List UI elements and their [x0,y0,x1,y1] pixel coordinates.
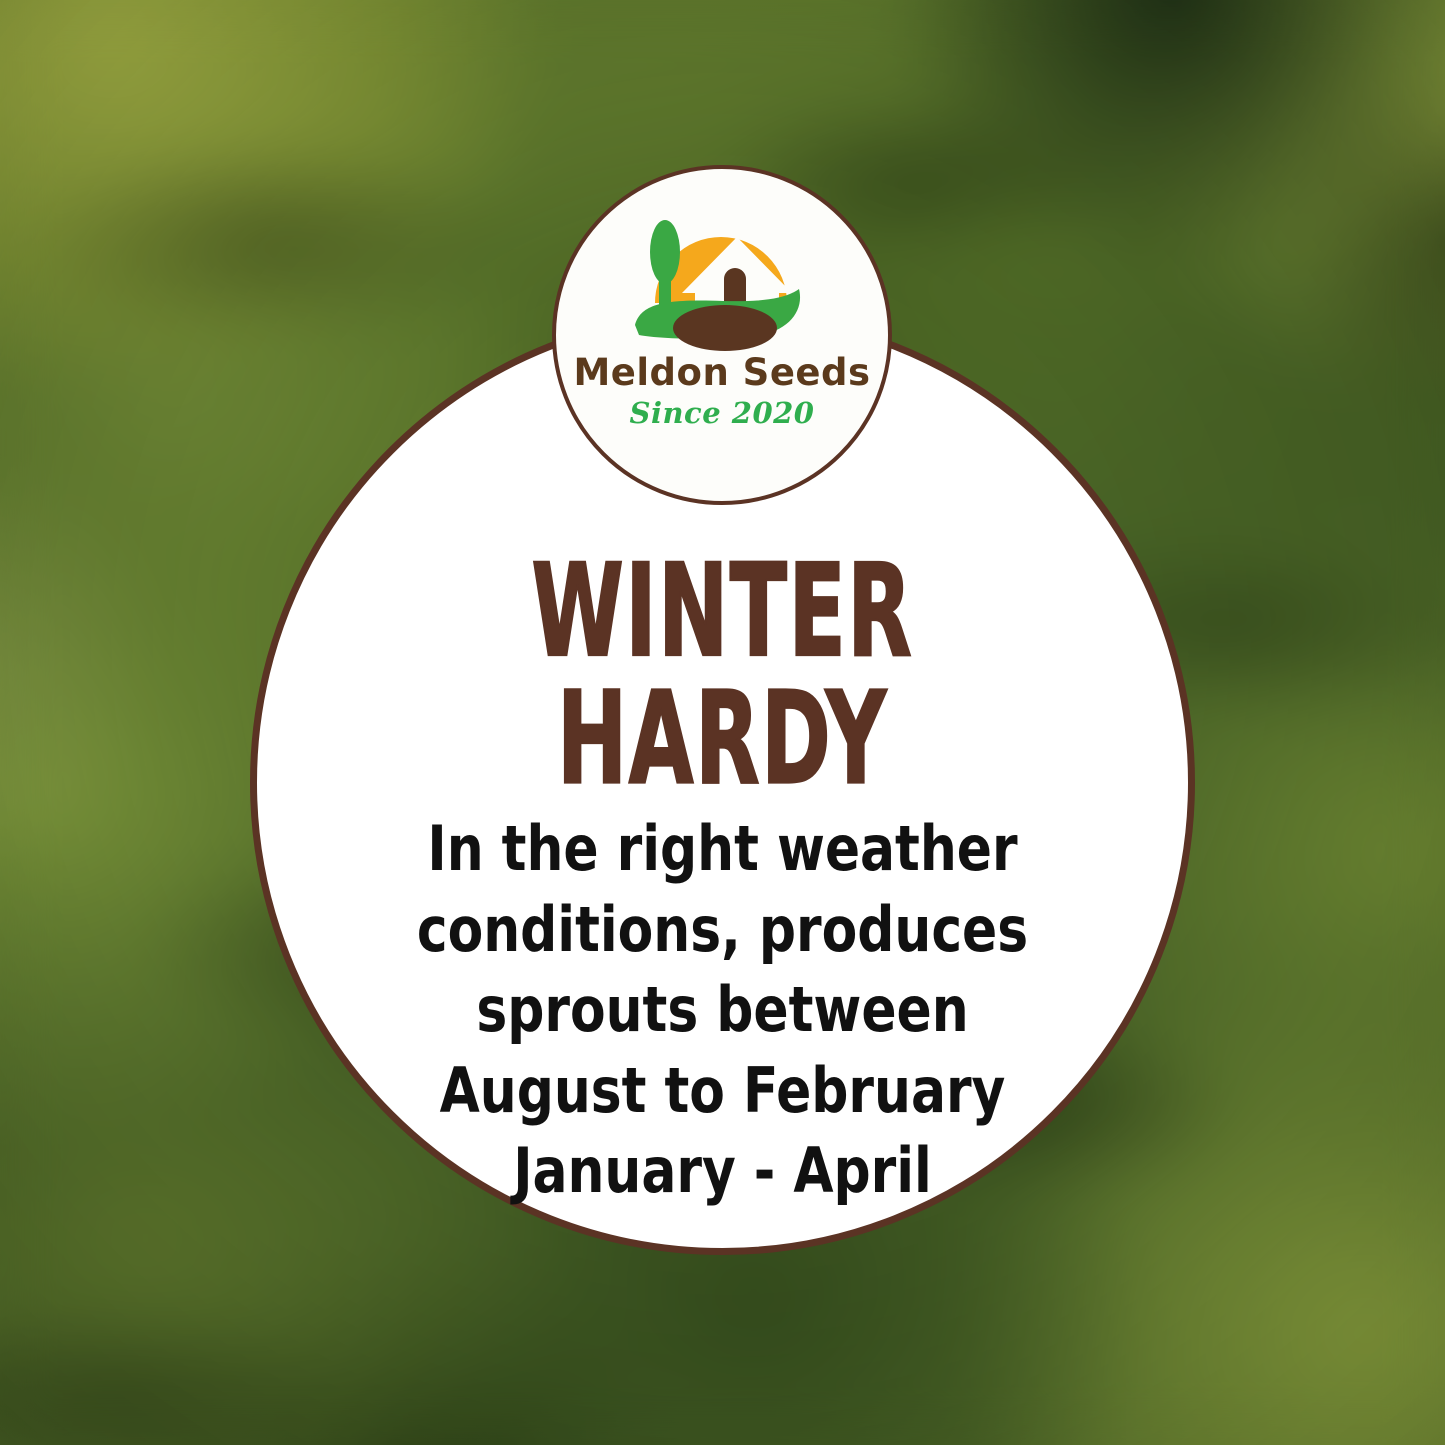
poster-canvas: WINTER HARDY In the right weather condit… [0,0,1445,1445]
farm-house-logo-icon [627,207,817,352]
card-content: WINTER HARDY In the right weather condit… [257,549,1188,1212]
brand-name: Meldon Seeds [573,354,870,391]
house-door-icon [724,268,746,305]
card-description: In the right weather conditions, produce… [345,809,1099,1212]
seed-ellipse-icon [673,305,777,351]
brand-tagline: Since 2020 [630,399,815,428]
page-title: WINTER HARDY [374,549,1071,804]
description-line-5: January - April [345,1131,1099,1212]
description-line-1: In the right weather [345,809,1099,890]
description-line-3: sprouts between [345,970,1099,1051]
description-line-2: conditions, produces [345,890,1099,971]
brand-logo-badge: Meldon Seeds Since 2020 [552,165,892,505]
description-line-4: August to February [345,1051,1099,1132]
